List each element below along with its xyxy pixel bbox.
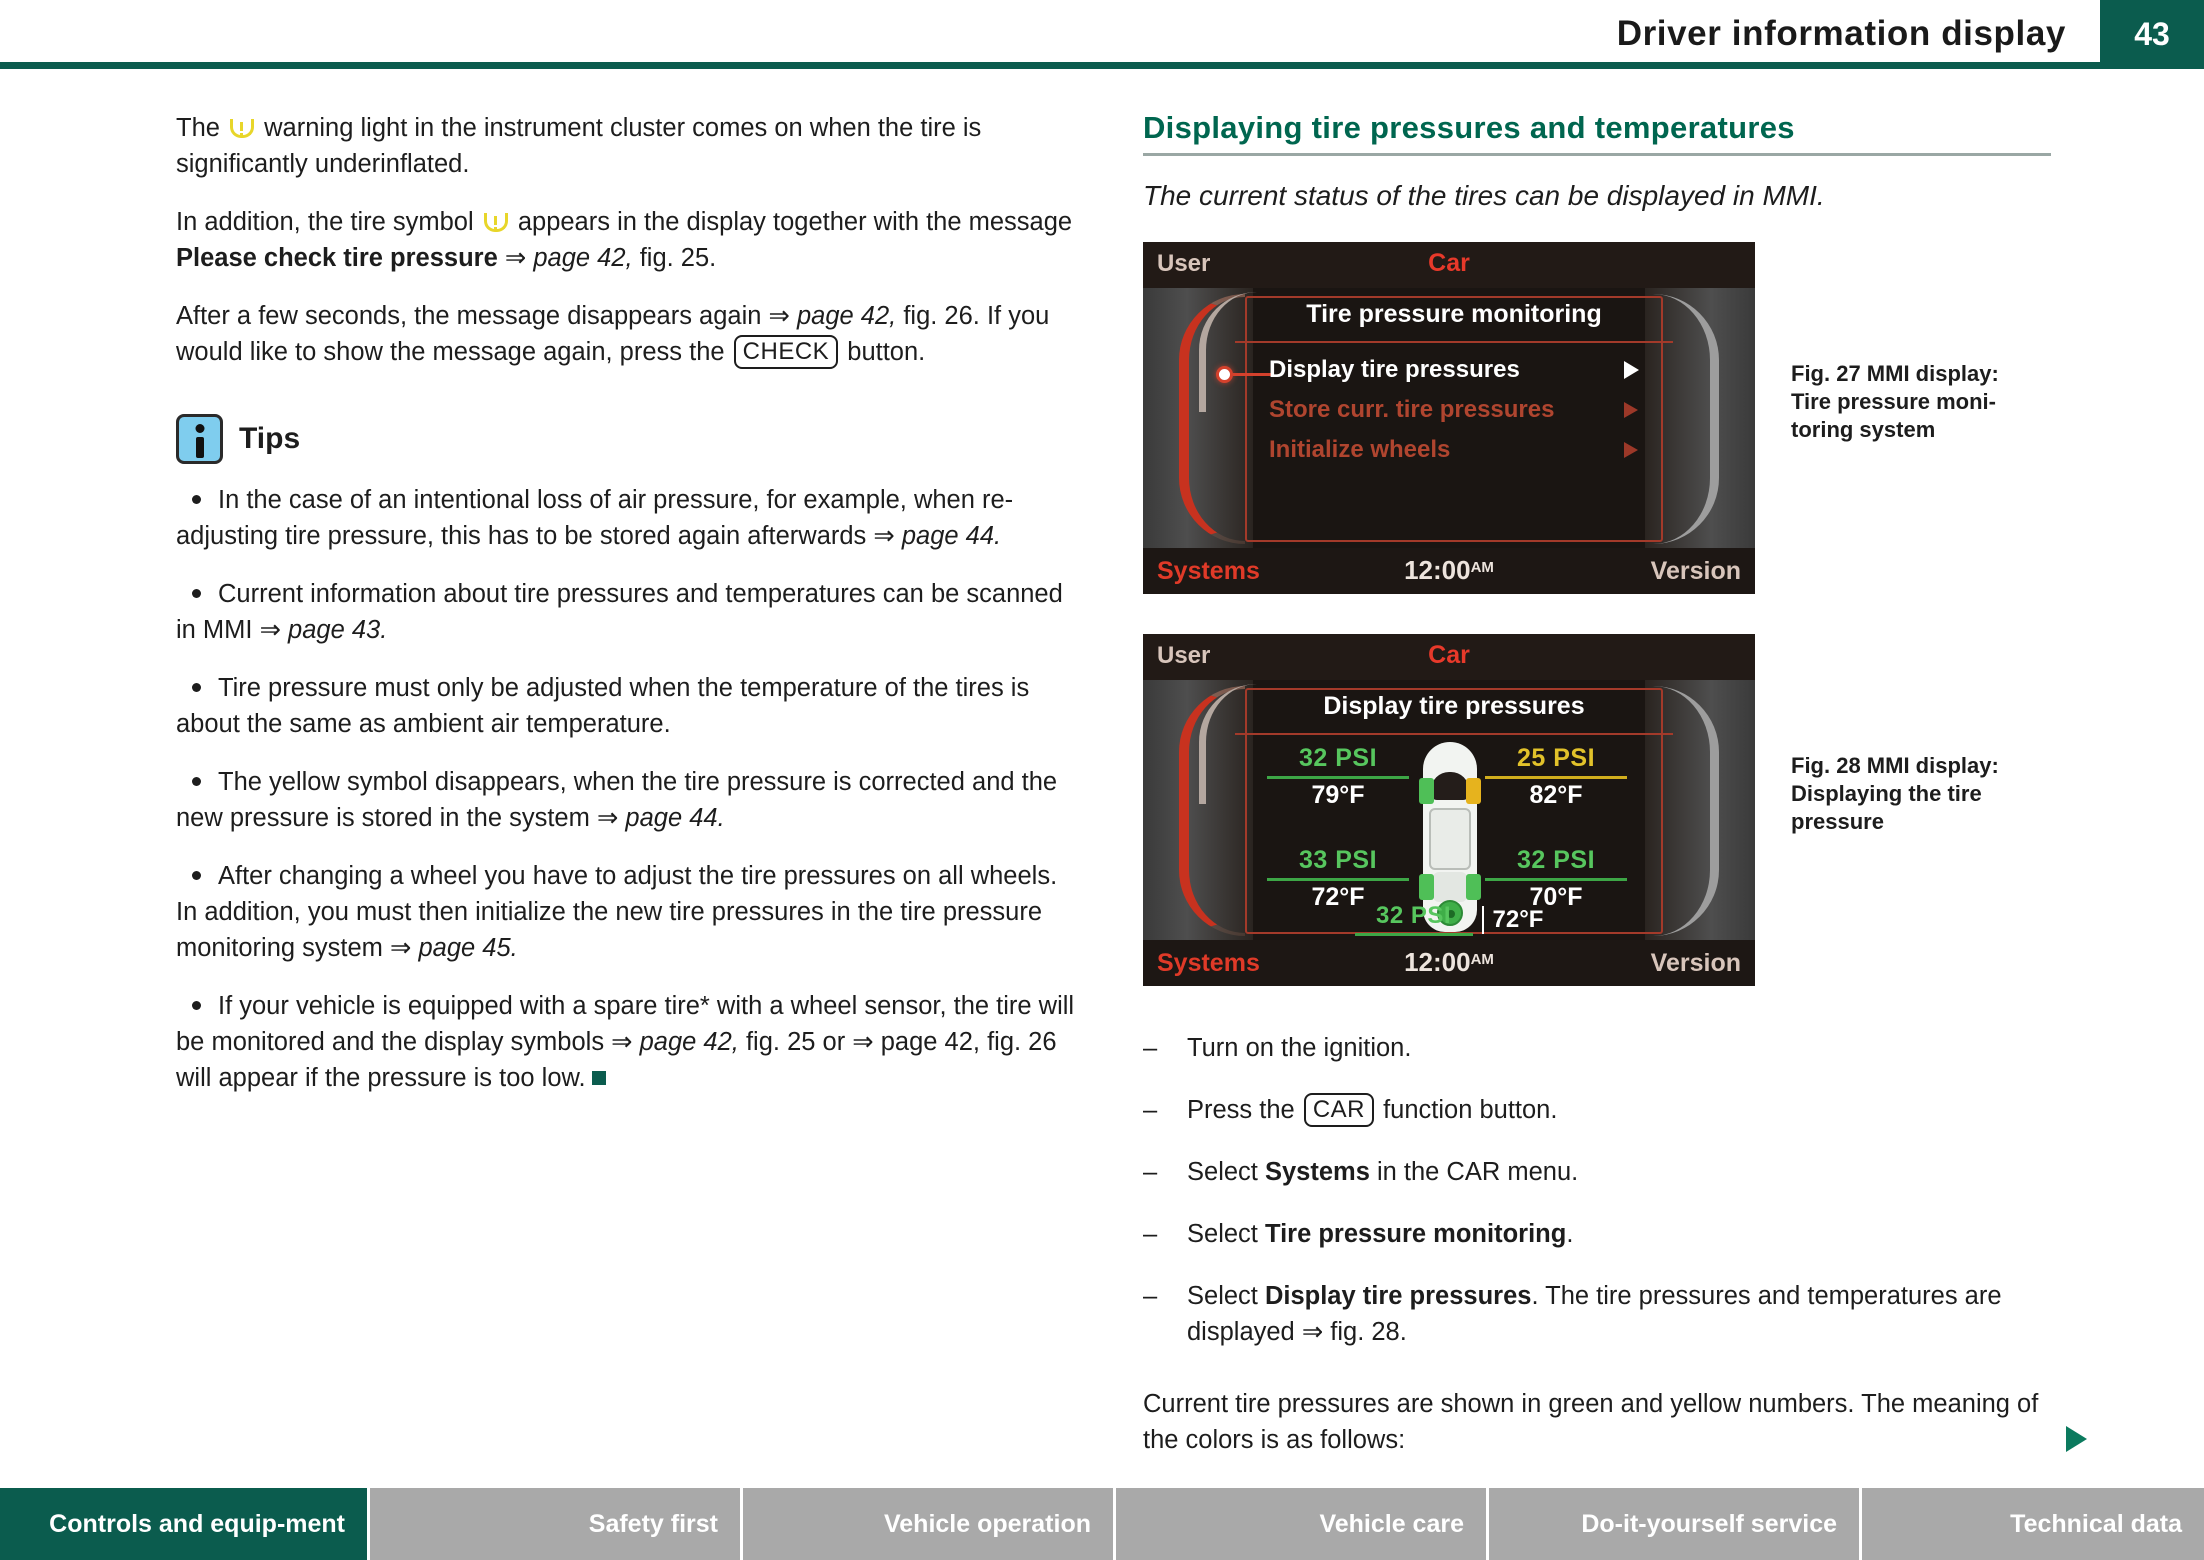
mmi-car-label: Car — [1143, 641, 1755, 670]
tips-heading: Tips — [176, 414, 1076, 464]
bullet-text: Tire pressure must only be adjusted when… — [176, 674, 1029, 738]
section-heading: Displaying tire pressures and temperatur… — [1143, 110, 2063, 146]
tire-readout-front-right: 25 PSI 82°F — [1481, 744, 1631, 810]
tire-pressure-value: 32 PSI — [1481, 846, 1631, 875]
dash-glyph: – — [1143, 1092, 1187, 1128]
arrow-glyph: ⇒ — [505, 244, 526, 272]
section-heading-rule — [1143, 153, 2051, 156]
figure-27-caption-line2: Tire pressure moni- — [1791, 388, 2061, 416]
list-item: After changing a wheel you have to adjus… — [176, 858, 1076, 966]
footer-tab-controls-and-equipment[interactable]: Controls and equip-ment — [0, 1488, 370, 1560]
para2-part2: appears in the display together with the… — [511, 208, 1072, 236]
arrow-glyph: ⇒ — [390, 934, 411, 962]
tire-status-bar — [1485, 776, 1627, 779]
footer-tab-label: Controls and equip-ment — [49, 1509, 345, 1539]
closing-text: Current tire pressures are shown in gree… — [1143, 1390, 2038, 1454]
mmi-version-label[interactable]: Version — [1651, 949, 1741, 978]
bullet-page-ref: page 44. — [618, 804, 724, 832]
figure-28-caption-line2: Displaying the tire — [1791, 780, 2061, 808]
tire-indicator-front-left — [1419, 778, 1434, 804]
tpms-warning-icon — [483, 212, 509, 234]
footer-tab-vehicle-care[interactable]: Vehicle care — [1116, 1488, 1489, 1560]
paragraph-warning-light: The warning light in the instrument clus… — [176, 110, 1076, 182]
tire-status-bar — [1355, 933, 1473, 936]
step-text: Turn on the ignition. — [1187, 1030, 2063, 1066]
list-item: If your vehicle is equipped with a spare… — [176, 988, 1076, 1096]
mmi-menu-item-label: Store curr. tire pressures — [1269, 396, 1624, 424]
mmi-display-tire-pressures: User Car Display tire pressures — [1143, 634, 1755, 986]
step-text: Select Systems in the CAR menu. — [1187, 1154, 2063, 1190]
step-bold-term: Tire pressure monitoring — [1265, 1220, 1566, 1248]
continue-arrow-icon — [2066, 1426, 2087, 1452]
step-bold-term: Display tire pressures — [1265, 1282, 1531, 1310]
step-text-tail: function button. — [1376, 1096, 1557, 1124]
list-item: – Select Tire pressure monitoring. — [1143, 1216, 2063, 1252]
bullet-dot-icon — [192, 495, 201, 504]
para2-part1: In addition, the tire symbol — [176, 208, 481, 236]
tire-pressure-value: 32 PSI — [1355, 902, 1473, 930]
step-text-part: Select — [1187, 1220, 1265, 1248]
closing-paragraph: Current tire pressures are shown in gree… — [1143, 1386, 2063, 1458]
header-rule — [0, 62, 2204, 69]
figure-28-caption-line3: pressure — [1791, 808, 2061, 836]
mmi-screen-title: Tire pressure monitoring — [1247, 300, 1661, 329]
step-text-part: Press the — [1187, 1096, 1302, 1124]
tire-pressure-value: 32 PSI — [1263, 744, 1413, 773]
left-column: The warning light in the instrument clus… — [176, 110, 1076, 1118]
list-item: – Select Systems in the CAR menu. — [1143, 1154, 2063, 1190]
divider — [1482, 906, 1484, 934]
bullet-text: After changing a wheel you have to adjus… — [176, 862, 1057, 962]
list-item: – Turn on the ignition. — [1143, 1030, 2063, 1066]
bullet-dot-icon — [192, 777, 201, 786]
tire-pressure-value: 33 PSI — [1263, 846, 1413, 875]
footer-tab-label: Vehicle operation — [884, 1509, 1091, 1539]
figure-27-caption-line3: toring system — [1791, 416, 2061, 444]
list-item: – Select Display tire pressures. The tir… — [1143, 1278, 2063, 1350]
arrow-glyph: ⇒ — [597, 804, 618, 832]
tire-indicator-front-right — [1466, 778, 1481, 804]
footer-tab-label: Technical data — [2010, 1509, 2182, 1539]
step-text-tail: . — [1566, 1220, 1573, 1248]
bullet-dot-icon — [192, 1001, 201, 1010]
mmi-selection-line — [1233, 373, 1271, 376]
tips-label: Tips — [239, 422, 300, 456]
bullet-page-ref: page 43. — [281, 616, 387, 644]
bullet-dot-icon — [192, 589, 201, 598]
bullet-page-ref: page 44. — [895, 522, 1001, 550]
step-text: Select Display tire pressures. The tire … — [1187, 1278, 2063, 1350]
para1-after: warning light in the instrument cluster … — [176, 114, 981, 178]
mmi-menu-item-label: Display tire pressures — [1269, 356, 1624, 384]
page-title: Driver information display — [1617, 14, 2066, 54]
figure-28: User Car Display tire pressures — [1143, 634, 2063, 986]
section-subheading: The current status of the tires can be d… — [1143, 180, 2063, 212]
mmi-clock-time: 12:00 — [1404, 555, 1471, 585]
para2-part3 — [498, 244, 505, 272]
footer-tab-vehicle-operation[interactable]: Vehicle operation — [743, 1488, 1116, 1560]
steps-list: – Turn on the ignition. – Press the CAR … — [1143, 1030, 2063, 1350]
arrow-glyph: ⇒ — [611, 1028, 632, 1056]
mmi-menu-item-store-curr-tire-pressures[interactable]: Store curr. tire pressures — [1269, 390, 1665, 430]
step-text-part: Select — [1187, 1158, 1265, 1186]
chevron-right-icon — [1624, 442, 1638, 458]
tire-status-bar — [1267, 878, 1409, 881]
para2-page-ref: page 42, — [526, 244, 632, 272]
list-item: Tire pressure must only be adjusted when… — [176, 670, 1076, 742]
para1-before: The — [176, 114, 227, 142]
dash-glyph: – — [1143, 1154, 1187, 1190]
mmi-screen-title: Display tire pressures — [1247, 692, 1661, 721]
para3-part3: button. — [840, 338, 925, 366]
page-header: Driver information display 43 — [0, 0, 2204, 72]
list-item: Current information about tire pressures… — [176, 576, 1076, 648]
bullet-dot-icon — [192, 871, 201, 880]
chevron-right-icon — [1624, 402, 1638, 418]
tpms-warning-icon — [229, 118, 255, 140]
paragraph-tire-symbol: In addition, the tire symbol appears in … — [176, 204, 1076, 276]
mmi-clock-meridiem: AM — [1471, 559, 1494, 576]
tire-readout-spare: 32 PSI 72°F — [1323, 902, 1575, 938]
page-number: 43 — [2100, 0, 2204, 69]
tire-pressure-value: 25 PSI — [1481, 744, 1631, 773]
mmi-menu-list: Display tire pressures Store curr. tire … — [1269, 350, 1665, 470]
tire-status-bar — [1267, 776, 1409, 779]
manual-page: Driver information display 43 The warnin… — [0, 0, 2204, 1560]
figure-27: User Car Tire pressure monitoring Displa… — [1143, 242, 2063, 594]
step-bold-term: Systems — [1265, 1158, 1370, 1186]
list-item: – Press the CAR function button. — [1143, 1092, 2063, 1128]
dash-glyph: – — [1143, 1030, 1187, 1066]
mmi-clock-meridiem: AM — [1471, 951, 1494, 968]
bullet-dot-icon — [192, 683, 201, 692]
figure-27-caption-line1: Fig. 27 MMI display: — [1791, 360, 2061, 388]
car-button-keycap[interactable]: CAR — [1304, 1093, 1374, 1127]
footer-tab-do-it-yourself-service[interactable]: Do-it-yourself service — [1489, 1488, 1862, 1560]
step-text-part: Turn on the ignition. — [1187, 1034, 1411, 1062]
list-item: In the case of an intentional loss of ai… — [176, 482, 1076, 554]
mmi-menu-item-display-tire-pressures[interactable]: Display tire pressures — [1269, 350, 1665, 390]
info-icon — [176, 414, 223, 464]
step-text-tail: in the CAR menu. — [1370, 1158, 1578, 1186]
tire-temperature-value: 79°F — [1263, 781, 1413, 810]
tire-status-bar — [1485, 878, 1627, 881]
tire-indicator-rear-left — [1419, 874, 1434, 900]
mmi-title-rule — [1235, 341, 1673, 343]
para3-part1: After a few seconds, the message disappe… — [176, 302, 769, 330]
step-text-part: Select — [1187, 1282, 1265, 1310]
para2-bold-message: Please check tire pressure — [176, 244, 498, 272]
step-text: Press the CAR function button. — [1187, 1092, 2063, 1128]
paragraph-check-button: After a few seconds, the message disappe… — [176, 298, 1076, 370]
para2-part4: fig. 25. — [633, 244, 717, 272]
right-column: Displaying tire pressures and temperatur… — [1143, 110, 2063, 1458]
arrow-glyph: ⇒ — [769, 302, 790, 330]
mmi-version-label[interactable]: Version — [1651, 557, 1741, 586]
mmi-menu-item-initialize-wheels[interactable]: Initialize wheels — [1269, 430, 1665, 470]
tire-indicator-rear-right — [1466, 874, 1481, 900]
footer-tab-label: Safety first — [589, 1509, 718, 1539]
chevron-right-icon — [1624, 361, 1639, 379]
tire-temperature-value: 82°F — [1481, 781, 1631, 810]
footer-tab-safety-first[interactable]: Safety first — [370, 1488, 743, 1560]
mmi-menu-item-label: Initialize wheels — [1269, 436, 1624, 464]
tire-temperature-value: 72°F — [1493, 906, 1544, 934]
figure-27-caption: Fig. 27 MMI display: Tire pressure moni-… — [1791, 360, 2061, 444]
arrow-glyph: ⇒ — [873, 522, 894, 550]
footer-nav: Controls and equip-ment Safety first Veh… — [0, 1488, 2204, 1560]
bullet-page-ref: page 45. — [411, 934, 517, 962]
footer-tab-technical-data[interactable]: Technical data — [1862, 1488, 2204, 1560]
end-of-section-marker — [592, 1071, 606, 1085]
mmi-selection-knob-icon — [1216, 366, 1233, 383]
dash-glyph: – — [1143, 1278, 1187, 1350]
mmi-car-label: Car — [1143, 249, 1755, 278]
mmi-title-rule — [1235, 733, 1673, 735]
footer-tab-label: Do-it-yourself service — [1581, 1509, 1837, 1539]
step-text: Select Tire pressure monitoring. — [1187, 1216, 2063, 1252]
list-item: The yellow symbol disappears, when the t… — [176, 764, 1076, 836]
tire-readout-front-left: 32 PSI 79°F — [1263, 744, 1413, 810]
figure-28-caption: Fig. 28 MMI display: Displaying the tire… — [1791, 752, 2061, 836]
figure-28-caption-line1: Fig. 28 MMI display: — [1791, 752, 2061, 780]
dash-glyph: – — [1143, 1216, 1187, 1252]
footer-tab-label: Vehicle care — [1319, 1509, 1464, 1539]
bullet-page-ref: page 42, — [633, 1028, 739, 1056]
para3-page-ref: page 42, — [790, 302, 896, 330]
mmi-display-tire-pressure-monitoring: User Car Tire pressure monitoring Displa… — [1143, 242, 1755, 594]
arrow-glyph: ⇒ — [260, 616, 281, 644]
check-button-keycap[interactable]: CHECK — [734, 335, 839, 369]
mmi-clock-time: 12:00 — [1404, 947, 1471, 977]
